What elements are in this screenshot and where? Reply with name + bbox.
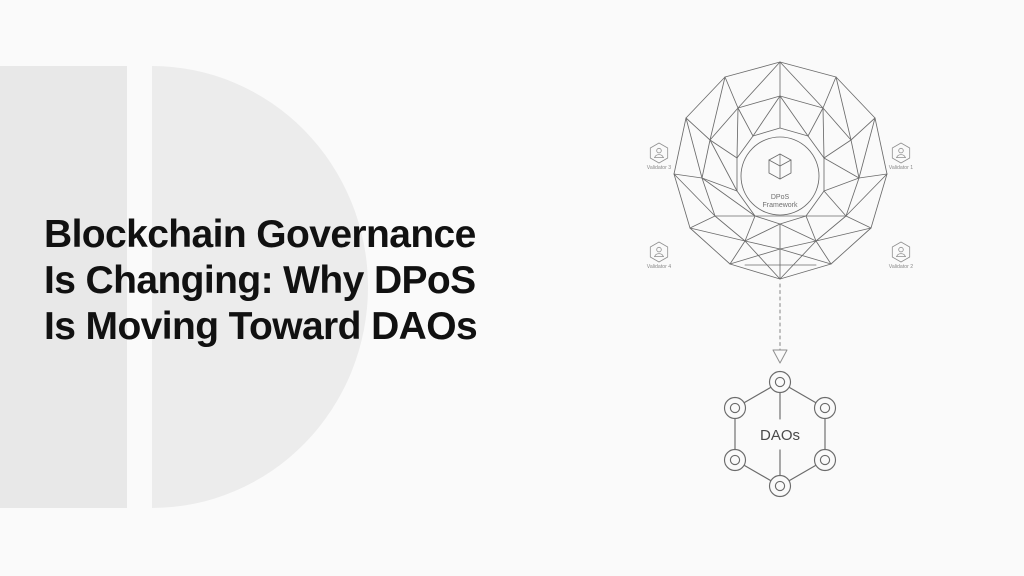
- core-label-line-1: DPoS: [771, 194, 790, 201]
- validator-badge-2: [892, 242, 909, 262]
- polyhedron-edge: [710, 140, 737, 158]
- dao-node: [770, 372, 791, 393]
- title-line-1: Blockchain Governance: [44, 212, 604, 258]
- polyhedron-edge: [674, 174, 702, 178]
- polyhedron-edge: [780, 62, 823, 108]
- polyhedron-edge: [824, 191, 846, 216]
- polyhedron-edge: [780, 249, 831, 264]
- validator-badge-3: [650, 143, 667, 163]
- polyhedron-edge: [702, 178, 737, 191]
- polyhedron-edge: [824, 140, 851, 158]
- polyhedron-edge: [780, 96, 808, 136]
- polyhedron-edge: [753, 96, 780, 136]
- validator-label-4: Validator 4: [647, 264, 672, 270]
- polyhedron-edge: [686, 118, 710, 140]
- dao-label: DAOs: [760, 427, 800, 444]
- cube-icon: [769, 154, 791, 179]
- page-title: Blockchain Governance Is Changing: Why D…: [44, 212, 604, 350]
- dao-node: [770, 476, 791, 497]
- polyhedron-edge: [823, 77, 836, 108]
- dao-node: [815, 450, 836, 471]
- dao-node: [725, 398, 746, 419]
- polyhedron-edge: [686, 118, 702, 178]
- validator-label-2: Validator 2: [889, 264, 914, 270]
- polyhedron-edge: [690, 216, 715, 228]
- polyhedron-edge: [710, 140, 737, 191]
- polyhedron-edge: [745, 241, 780, 279]
- core-label-line-2: Framework: [762, 202, 798, 209]
- governance-illustration: DPoS Framework Validator 3 Validator 1 V…: [620, 36, 950, 546]
- polyhedron-edge: [824, 158, 859, 178]
- validator-badge-1: [892, 143, 909, 163]
- polyhedron-edge: [738, 108, 753, 136]
- polyhedron-edge: [710, 77, 725, 140]
- polyhedron-edge: [823, 108, 824, 158]
- validator-badge-4: [650, 242, 667, 262]
- polyhedron-edge: [745, 224, 780, 241]
- polyhedron-edge: [725, 77, 738, 108]
- dao-node: [815, 398, 836, 419]
- validator-label-1: Validator 1: [889, 165, 914, 171]
- validator-label-3: Validator 3: [647, 165, 672, 171]
- polyhedron-edge: [824, 178, 859, 191]
- polyhedron-edge: [808, 108, 823, 136]
- flow-connector-arrow: [773, 350, 787, 363]
- polyhedron-edge: [836, 77, 851, 140]
- polyhedron-edge: [859, 118, 875, 178]
- dao-node: [725, 450, 746, 471]
- title-line-3: Is Moving Toward DAOs: [44, 304, 604, 350]
- polyhedron-edge: [859, 174, 887, 178]
- title-line-2: Is Changing: Why DPoS: [44, 258, 604, 304]
- polyhedron-edge: [851, 118, 875, 140]
- polyhedron-edge: [737, 108, 738, 158]
- polyhedron-edge: [846, 216, 871, 228]
- polyhedron-edge: [738, 62, 780, 108]
